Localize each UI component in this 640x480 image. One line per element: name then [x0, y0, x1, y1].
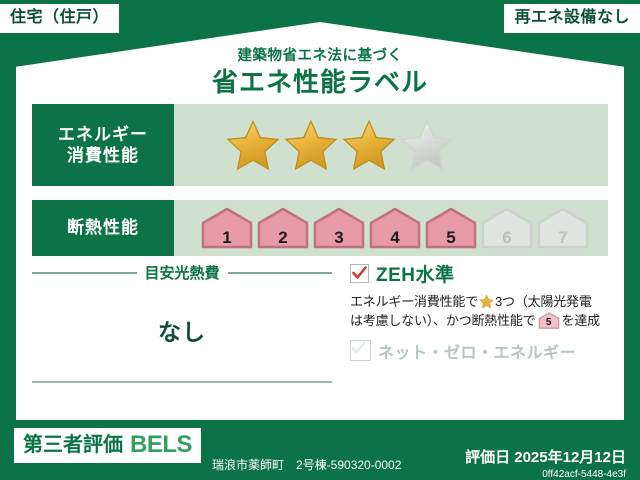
insulation-level-5: 5	[424, 207, 478, 249]
zeh-desc-line2-part2: を達成	[562, 313, 600, 328]
star-icon-filled	[284, 118, 338, 172]
energy-performance-row: エネルギー 消費性能	[32, 104, 608, 186]
utility-cost-bottom-rule	[32, 381, 332, 383]
utility-cost-heading-row: 目安光熱費	[32, 262, 332, 283]
star-icon-filled	[226, 118, 280, 172]
zeh-desc-part1: エネルギー消費性能で	[350, 294, 478, 309]
building-type-badge: 住宅（住戸）	[0, 4, 119, 33]
rule-right	[228, 272, 333, 274]
insulation-level-number: 3	[312, 229, 366, 246]
bels-energy-label: 住宅（住戸） 再エネ設備なし 建築物省エネ法に基づく 省エネ性能ラベル エネルギ…	[0, 0, 640, 480]
bels-logo: 第三者評価 BELS	[14, 428, 201, 463]
insulation-performance-row: 断熱性能 1234567	[32, 200, 608, 256]
net-zero-label: ネット・ゼロ・エネルギー	[378, 339, 576, 363]
rule-left	[32, 272, 137, 274]
renewable-equipment-badge: 再エネ設備なし	[504, 4, 640, 33]
utility-cost-value: なし	[32, 283, 332, 381]
insulation-level-7: 7	[536, 207, 590, 249]
insulation-level-number: 6	[480, 229, 534, 246]
utility-cost-heading: 目安光熱費	[145, 262, 220, 283]
zeh-title-row: ZEH水準	[350, 260, 612, 287]
footer-bar: 第三者評価 BELS 瑞浪市薬師町 2号棟-590320-0002 評価日 20…	[0, 420, 640, 480]
net-zero-checkbox[interactable]	[350, 340, 371, 361]
net-zero-row: ネット・ゼロ・エネルギー	[350, 339, 612, 363]
insulation-performance-label: 断熱性能	[32, 200, 174, 256]
insulation-level-3: 3	[312, 207, 366, 249]
inline-insulation-badge: 5	[538, 312, 560, 329]
insulation-level-scale: 1234567	[174, 200, 608, 256]
insulation-level-2: 2	[256, 207, 310, 249]
property-address: 瑞浪市薬師町 2号棟-590320-0002	[212, 456, 401, 473]
zeh-block: ZEH水準 エネルギー消費性能で 3つ（太陽光発電 は考慮しない）、かつ断熱性能…	[350, 260, 612, 363]
check-icon-disabled	[351, 341, 366, 356]
inline-badge-number: 5	[538, 318, 560, 328]
bels-logo-jp: 第三者評価	[23, 435, 123, 455]
zeh-title: ZEH水準	[376, 260, 455, 287]
insulation-level-number: 5	[424, 229, 478, 246]
star-icon-empty	[400, 118, 454, 172]
evaluation-date-block: 評価日 2025年12月12日 0ff42acf-5448-4e3f	[465, 446, 626, 480]
document-id: 0ff42acf-5448-4e3f	[465, 469, 626, 480]
energy-label-line1: エネルギー	[58, 124, 148, 145]
energy-label-line2: 消費性能	[58, 145, 148, 166]
label-title: 省エネ性能ラベル	[0, 62, 640, 99]
bels-logo-en: BELS	[130, 433, 192, 457]
star-rating	[174, 104, 608, 186]
zeh-desc-line2-part1: は考慮しない）、かつ断熱性能で	[350, 313, 536, 328]
energy-performance-label: エネルギー 消費性能	[32, 104, 174, 186]
evaluation-date: 評価日 2025年12月12日	[465, 446, 626, 467]
insulation-level-number: 4	[368, 229, 422, 246]
utility-cost-block: 目安光熱費 なし	[32, 262, 332, 383]
zeh-desc-part2: 3つ（太陽光発電	[495, 294, 592, 309]
zeh-description: エネルギー消費性能で 3つ（太陽光発電 は考慮しない）、かつ断熱性能で 5 を達…	[350, 293, 612, 331]
insulation-level-1: 1	[200, 207, 254, 249]
insulation-level-6: 6	[480, 207, 534, 249]
star-icon-filled	[342, 118, 396, 172]
star-icon	[479, 294, 494, 309]
insulation-level-4: 4	[368, 207, 422, 249]
insulation-level-number: 2	[256, 229, 310, 246]
zeh-checkbox[interactable]	[350, 264, 369, 283]
insulation-level-number: 7	[536, 229, 590, 246]
check-icon	[352, 266, 367, 281]
insulation-level-number: 1	[200, 229, 254, 246]
